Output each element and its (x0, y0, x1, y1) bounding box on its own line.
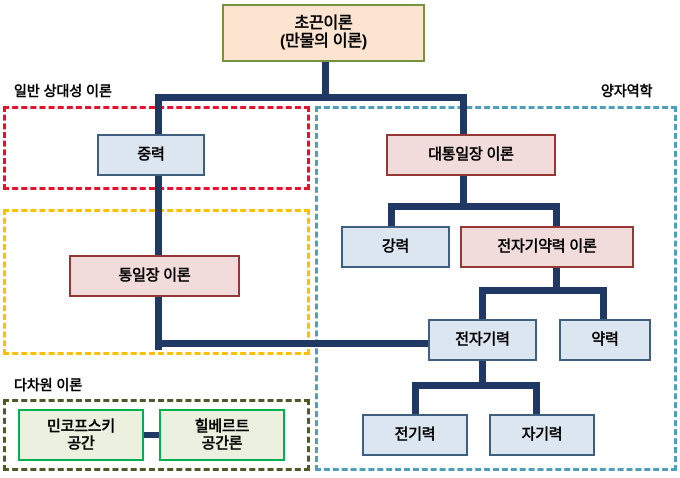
connector-unified-field-to-electromagnetic (155, 340, 435, 347)
node-strong-force[interactable]: 강력 (341, 226, 450, 268)
node-hilbert-space-theory-line2: 공간론 (195, 435, 249, 452)
node-grand-unified-theory[interactable]: 대통일장 이론 (386, 134, 556, 176)
connector-grand-unified-stem (460, 176, 467, 206)
theory-of-everything-diagram: 일반 상대성 이론 다차원 이론 양자역학 초끈이론 (만물의 이론) 중력 통… (0, 0, 680, 478)
node-superstring-theory[interactable]: 초끈이론 (만물의 이론) (222, 4, 425, 62)
node-unified-field-theory[interactable]: 통일장 이론 (69, 255, 240, 297)
node-superstring-theory-line2: (만물의 이론) (280, 33, 367, 51)
connector-split-bar (155, 94, 467, 101)
node-hilbert-space-theory[interactable]: 힐베르트 공간론 (159, 409, 285, 461)
node-weak-force[interactable]: 약력 (559, 319, 651, 361)
connector-minkowski-hilbert (142, 432, 160, 438)
connector-electromagnetic-split (412, 382, 540, 389)
node-electroweak-theory[interactable]: 전자기약력 이론 (460, 226, 634, 268)
connector-grand-unified-split (388, 203, 560, 210)
node-electric-force[interactable]: 전기력 (362, 414, 468, 456)
connector-to-weak-force (600, 287, 607, 320)
node-hilbert-space-theory-line1: 힐베르트 (195, 418, 249, 435)
region-label-general-relativity: 일반 상대성 이론 (14, 84, 112, 98)
connector-to-electromagnetic (479, 287, 486, 320)
node-superstring-theory-line1: 초끈이론 (280, 15, 367, 33)
node-minkowski-space[interactable]: 민코프스키 공간 (18, 409, 144, 461)
connector-to-strong-force (388, 203, 395, 228)
connector-electroweak-split (479, 287, 607, 294)
region-label-quantum-mechanics: 양자역학 (601, 84, 653, 98)
node-magnetic-force[interactable]: 자기력 (489, 414, 595, 456)
region-label-multidimensional-theory: 다차원 이론 (14, 378, 82, 392)
connector-to-magnetic-force (533, 382, 540, 415)
node-electromagnetic-force[interactable]: 전자기력 (428, 319, 537, 361)
connector-to-electroweak (553, 203, 560, 228)
node-minkowski-space-line1: 민코프스키 (47, 418, 115, 435)
node-minkowski-space-line2: 공간 (47, 435, 115, 452)
connector-to-electric-force (412, 382, 419, 415)
node-gravity[interactable]: 중력 (97, 134, 205, 176)
